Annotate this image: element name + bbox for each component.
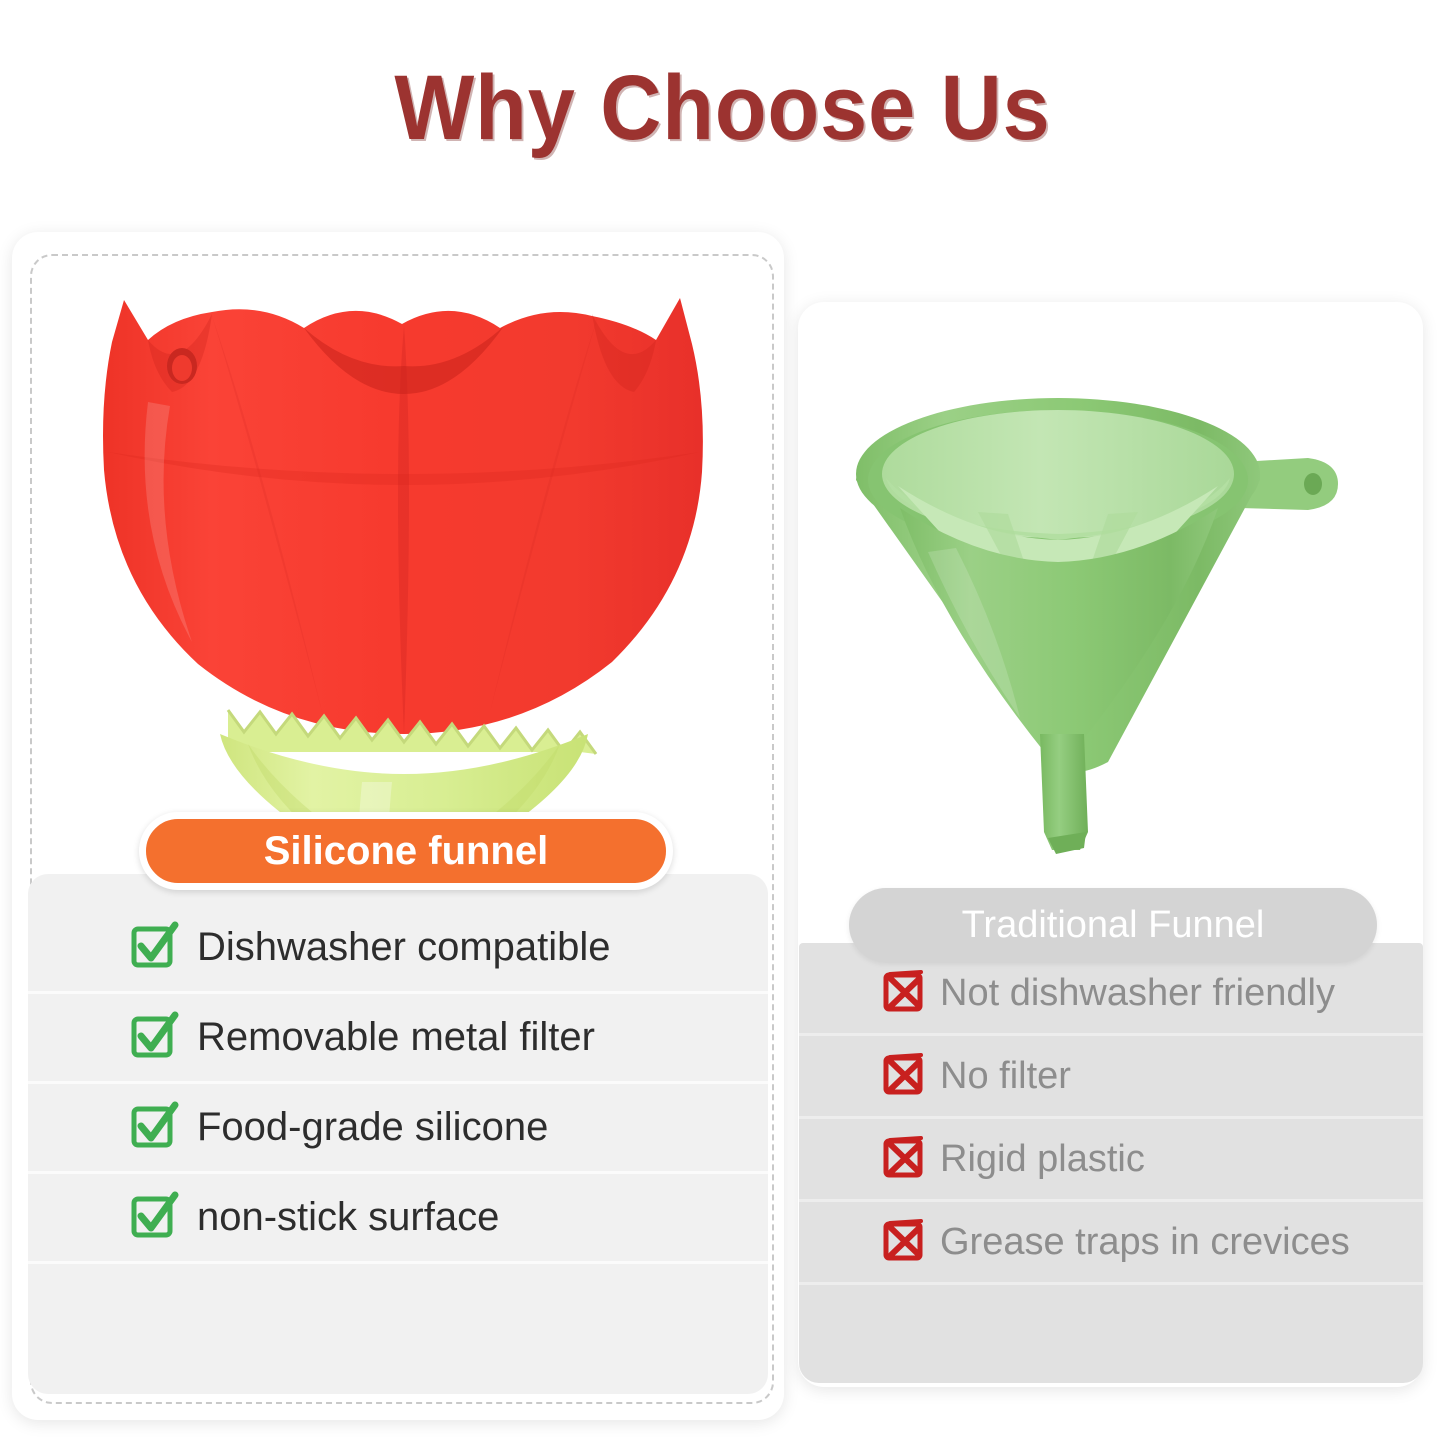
list-item-label: Removable metal filter <box>197 1015 595 1060</box>
traditional-feature-list: Not dishwasher friendly No filter <box>799 943 1423 1285</box>
traditional-funnel-badge-label: Traditional Funnel <box>962 904 1265 947</box>
list-item-label: Grease traps in crevices <box>940 1221 1350 1264</box>
list-item-label: Not dishwasher friendly <box>940 972 1335 1015</box>
list-item: non-stick surface <box>28 1174 768 1264</box>
silicone-funnel-badge[interactable]: Silicone funnel <box>139 812 673 890</box>
traditional-feature-panel: Not dishwasher friendly No filter <box>799 943 1423 1383</box>
silicone-funnel-badge-label: Silicone funnel <box>264 829 548 874</box>
list-item-label: Food-grade silicone <box>197 1105 548 1150</box>
cross-square-icon <box>881 968 927 1019</box>
traditional-funnel-image <box>808 362 1408 882</box>
cross-square-icon <box>881 1134 927 1185</box>
traditional-funnel-badge[interactable]: Traditional Funnel <box>849 888 1377 962</box>
list-item: Dishwasher compatible <box>28 904 768 994</box>
cross-square-icon <box>881 1051 927 1102</box>
silicone-feature-panel: Dishwasher compatible Removable metal fi… <box>28 874 768 1394</box>
list-item-label: non-stick surface <box>197 1195 499 1240</box>
list-item-label: Dishwasher compatible <box>197 925 611 970</box>
list-item: Not dishwasher friendly <box>799 953 1423 1036</box>
page-title: Why Choose Us <box>58 62 1387 154</box>
check-square-icon <box>129 920 179 975</box>
list-item: Food-grade silicone <box>28 1084 768 1174</box>
check-square-icon <box>129 1190 179 1245</box>
traditional-funnel-card: Not dishwasher friendly No filter <box>798 302 1423 1387</box>
check-square-icon <box>129 1010 179 1065</box>
list-item: Rigid plastic <box>799 1119 1423 1202</box>
cross-square-icon <box>881 1217 927 1268</box>
list-item-label: Rigid plastic <box>940 1138 1145 1181</box>
list-item: Removable metal filter <box>28 994 768 1084</box>
list-item: Grease traps in crevices <box>799 1202 1423 1285</box>
list-item-label: No filter <box>940 1055 1071 1098</box>
check-square-icon <box>129 1100 179 1155</box>
list-item: No filter <box>799 1036 1423 1119</box>
silicone-feature-list: Dishwasher compatible Removable metal fi… <box>28 874 768 1264</box>
